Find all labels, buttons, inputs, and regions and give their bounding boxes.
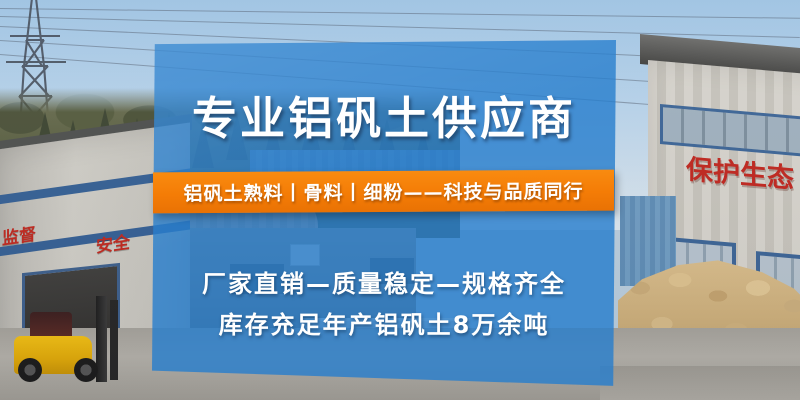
ground-right	[600, 366, 800, 400]
left-wall-sign: 监督	[2, 220, 36, 250]
headline: 专业铝矾土供应商	[152, 82, 616, 147]
forklift-wheel	[18, 358, 42, 382]
forklift-wheel	[74, 358, 98, 382]
subline-two: 库存充足年产铝矾土8万余吨	[152, 305, 616, 340]
left-wall-sign-2: 安全	[96, 228, 130, 258]
orange-ribbon: 铝矾土熟料丨骨料丨细粉——科技与品质同行	[153, 170, 614, 214]
orange-ribbon-text: 铝矾土熟料丨骨料丨细粉——科技与品质同行	[183, 177, 583, 206]
subline-one: 厂家直销—质量稳定—规格齐全	[152, 264, 616, 299]
promotional-banner: 监督 安全 保护生态 专业铝矾土供应商 铝矾土熟料丨骨料丨细粉——科技与品质	[0, 0, 800, 400]
forklift-mast	[110, 300, 118, 380]
